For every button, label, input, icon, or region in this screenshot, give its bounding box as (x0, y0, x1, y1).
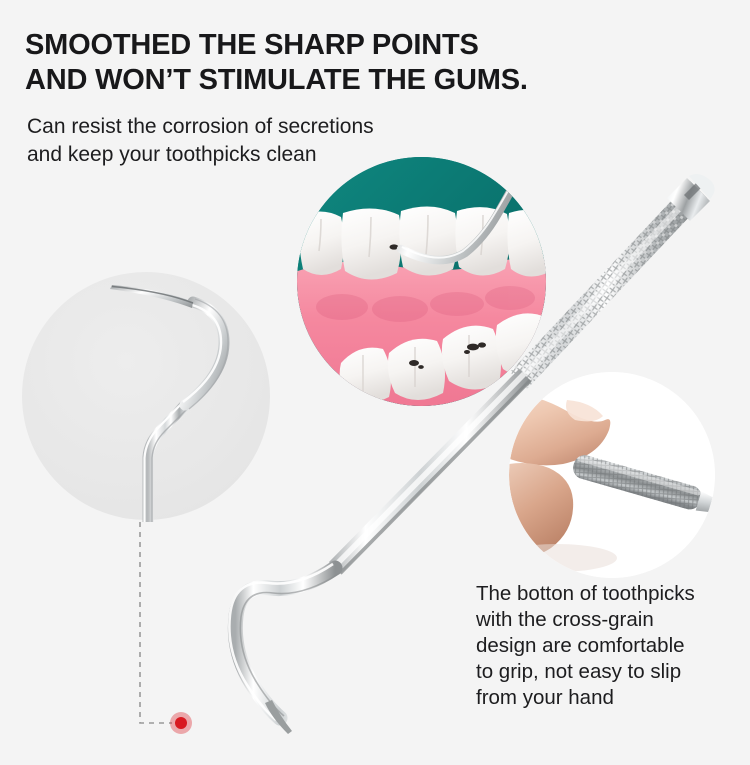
callout-marker-dot (170, 712, 192, 734)
grip-feature-caption: The botton of toothpicks with the cross-… (476, 581, 744, 711)
product-feature-image: SMOOTHED THE SHARP POINTS AND WON’T STIM… (0, 0, 750, 765)
